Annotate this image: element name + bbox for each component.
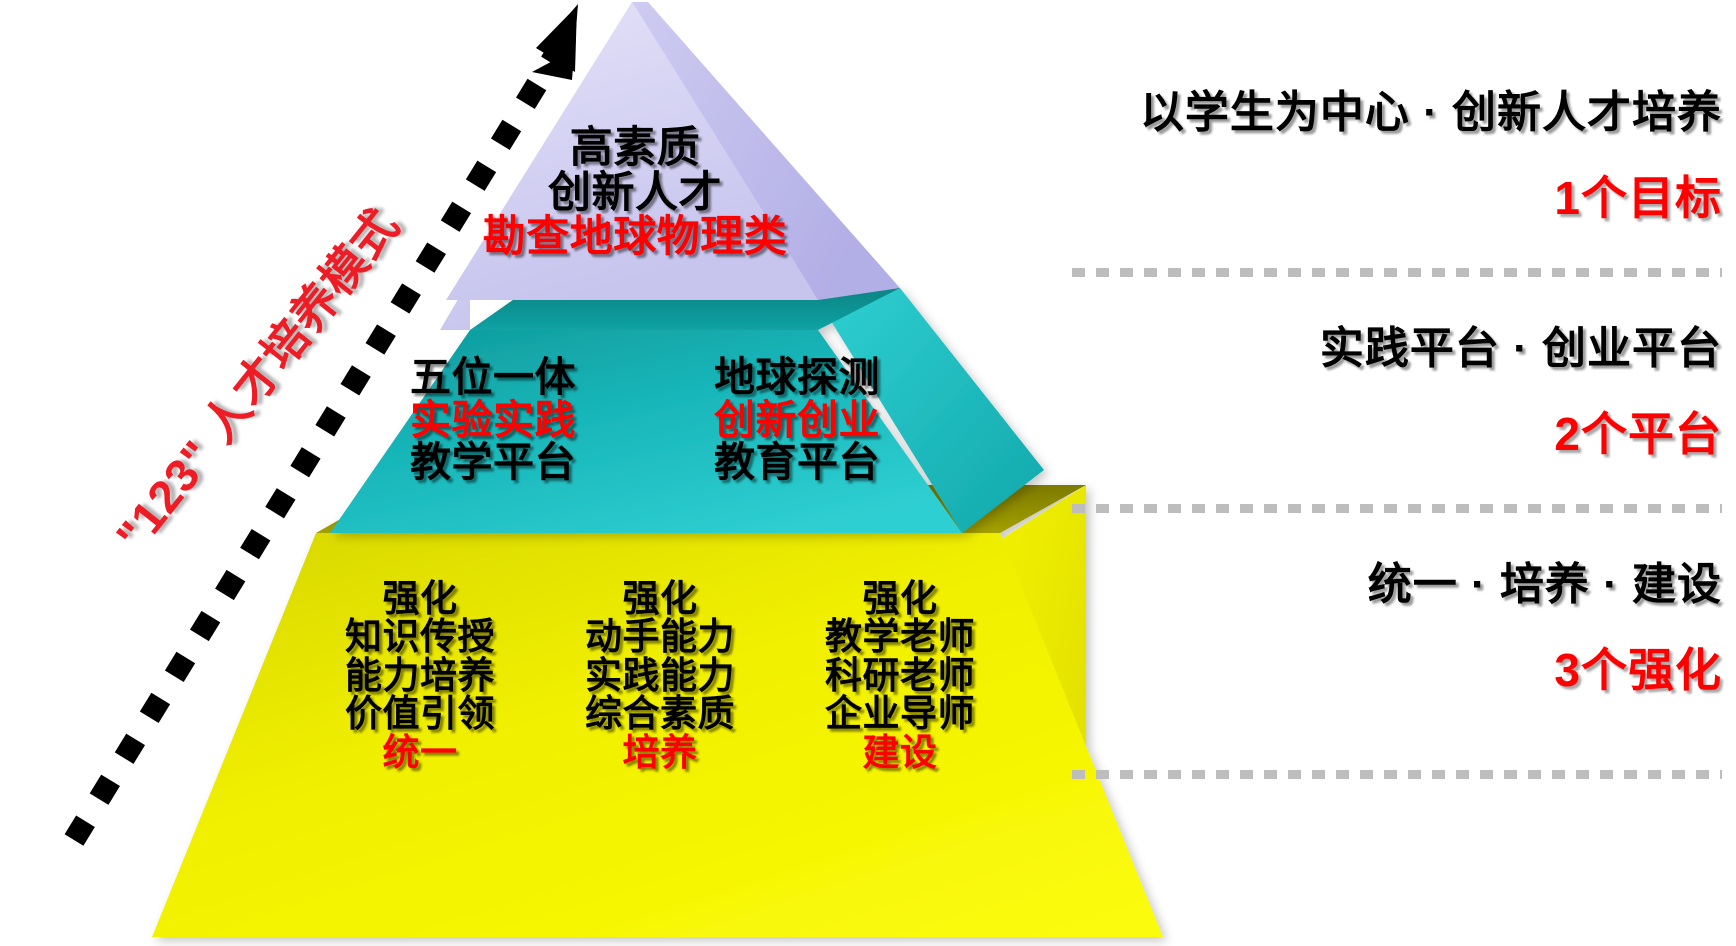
dotted-separator-3 [1072,770,1722,779]
apex-line-3: 勘查地球物理类 [440,215,830,260]
base-c2-line-1: 动手能力 [540,618,780,656]
panel-2-count: 2个平台 [1320,398,1722,464]
base-column-1: 强化 知识传授 能力培养 价值引领 统一 [300,580,540,772]
middle-c1-line-2: 实验实践 [410,399,576,442]
base-c1-line-1: 知识传授 [300,618,540,656]
apex-text-block: 高素质 创新人才 勘查地球物理类 [440,126,830,260]
middle-c1-line-3: 教学平台 [410,441,576,484]
base-c2-line-2: 实践能力 [540,657,780,695]
middle-c2-line-3: 教育平台 [714,441,880,484]
base-c3-line-2: 科研老师 [780,657,1020,695]
middle-c2-line-2: 创新创业 [714,399,880,442]
base-c1-keyword: 统一 [300,734,540,772]
base-c3-line-1: 教学老师 [780,618,1020,656]
panel-2-title: 实践平台 · 创业平台 [1320,312,1722,376]
base-c2-keyword: 培养 [540,734,780,772]
base-c1-line-2: 能力培养 [300,657,540,695]
base-column-2: 强化 动手能力 实践能力 综合素质 培养 [540,580,780,772]
right-panel-goal: 以学生为中心 · 创新人才培养 1个目标 [1140,76,1722,228]
base-column-3: 强化 教学老师 科研老师 企业导师 建设 [780,580,1020,772]
panel-3-title: 统一 · 培养 · 建设 [1368,548,1722,612]
middle-column-1: 五位一体 实验实践 教学平台 [410,356,576,484]
base-c1-header: 强化 [300,580,540,618]
apex-line-2: 创新人才 [440,171,830,216]
middle-column-2: 地球探测 创新创业 教育平台 [714,356,880,484]
dotted-separator-1 [1072,268,1722,277]
base-c1-line-3: 价值引领 [300,695,540,733]
panel-1-count: 1个目标 [1140,162,1722,228]
middle-c1-line-1: 五位一体 [410,356,576,399]
base-c3-keyword: 建设 [780,734,1020,772]
panel-1-title: 以学生为中心 · 创新人才培养 [1140,76,1722,140]
right-panel-platform: 实践平台 · 创业平台 2个平台 [1320,312,1722,464]
base-c2-line-3: 综合素质 [540,695,780,733]
diagram-canvas: 高素质 创新人才 勘查地球物理类 五位一体 实验实践 教学平台 地球探测 创新创… [0,0,1736,946]
base-c2-header: 强化 [540,580,780,618]
dotted-separator-2 [1072,504,1722,513]
base-c3-line-3: 企业导师 [780,695,1020,733]
apex-line-1: 高素质 [440,126,830,171]
base-c3-header: 强化 [780,580,1020,618]
middle-text-block: 五位一体 实验实践 教学平台 地球探测 创新创业 教育平台 [410,356,880,484]
middle-c2-line-1: 地球探测 [714,356,880,399]
right-panel-strengthening: 统一 · 培养 · 建设 3个强化 [1368,548,1722,700]
base-text-block: 强化 知识传授 能力培养 价值引领 统一 强化 动手能力 实践能力 综合素质 培… [300,580,1020,772]
panel-3-count: 3个强化 [1368,634,1722,700]
